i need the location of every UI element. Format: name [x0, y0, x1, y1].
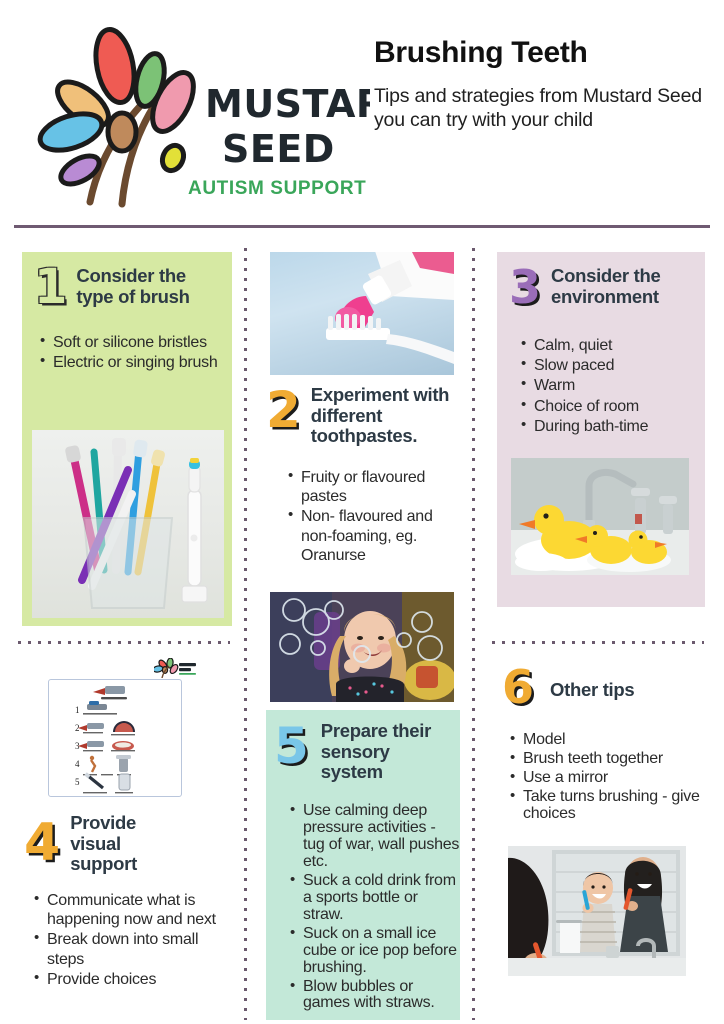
section-2-bullets: Fruity or flavoured pastes Non- flavoure…: [286, 468, 458, 566]
mother-child-brushing-mirror-photo: [508, 846, 686, 976]
list-item: During bath-time: [519, 417, 699, 436]
list-item: Communicate what is happening now and ne…: [32, 891, 232, 929]
list-item: Blow bubbles or games with straws.: [288, 979, 460, 1013]
list-item: Warm: [519, 376, 699, 395]
row-divider-right: [492, 641, 704, 644]
section-1-number: 1: [34, 265, 67, 309]
logo-tagline: AUTISM SUPPORT: [188, 178, 366, 199]
section-4-bullets: Communicate what is happening now and ne…: [32, 891, 232, 990]
list-item: Non- flavoured and non-foaming, eg. Oran…: [286, 507, 458, 565]
section-1-card: 1 Consider the type of brush Soft or sil…: [22, 252, 232, 626]
list-item: Model: [508, 732, 708, 749]
section-6-heading: 6 Other tips: [502, 666, 702, 708]
section-1-bullets: Soft or silicone bristles Electric or si…: [38, 333, 224, 373]
section-5-title: Prepare their sensory system: [321, 720, 439, 783]
section-4-block: 123 45: [18, 652, 233, 1012]
list-item: Break down into small steps: [32, 930, 232, 968]
column-divider-left: [244, 248, 247, 1020]
list-item: Calm, quiet: [519, 336, 699, 355]
section-4-title: Provide visual support: [70, 812, 180, 875]
list-item: Brush teeth together: [508, 751, 708, 768]
section-6-bullets: Model Brush teeth together Use a mirror …: [508, 732, 708, 825]
section-3-title: Consider the environment: [551, 264, 699, 307]
list-item: Soft or silicone bristles: [38, 333, 224, 352]
rubber-ducks-bath-photo: [511, 458, 689, 575]
mustard-seed-logo: MUSTARD SEED AUTISM SUPPORT: [30, 22, 370, 212]
list-item: Suck a cold drink from a sports bottle o…: [288, 873, 460, 924]
list-item: Slow paced: [519, 356, 699, 375]
section-5-bullets: Use calming deep pressure activities - t…: [288, 803, 460, 1014]
mirror-brushing-illustration: [508, 846, 686, 976]
section-5-block: 5 Prepare their sensory system Use calmi…: [266, 592, 464, 1020]
toothpaste-illustration: [270, 252, 454, 375]
list-item: Use a mirror: [508, 770, 708, 787]
section-3-heading: 3 Consider the environment: [509, 264, 699, 308]
header: MUSTARD SEED AUTISM SUPPORT Brushing Tee…: [0, 0, 724, 228]
header-divider-rule: [14, 225, 710, 228]
logo-artwork: MUSTARD SEED AUTISM SUPPORT: [30, 22, 370, 212]
rubber-ducks-illustration: [511, 458, 689, 575]
list-item: Fruity or flavoured pastes: [286, 468, 458, 506]
section-2-block: 2 Experiment with different toothpastes.…: [266, 252, 458, 582]
section-5-heading: 5 Prepare their sensory system: [274, 720, 456, 783]
toothbrush-illustration: [32, 430, 224, 618]
section-3-card: 3 Consider the environment Calm, quiet S…: [497, 252, 705, 607]
visual-schedule-illustration: 123 45: [49, 680, 181, 796]
section-2-title: Experiment with different toothpastes.: [311, 383, 458, 447]
logo-word-mustard: MUSTARD: [205, 82, 370, 126]
column-divider-right: [472, 248, 475, 1020]
list-item: Choice of room: [519, 397, 699, 416]
section-5-card: 5 Prepare their sensory system Use calmi…: [266, 710, 460, 1020]
list-item: Suck on a small ice cube or ice pop befo…: [288, 926, 460, 977]
svg-text:5: 5: [75, 777, 80, 787]
logo-word-seed: SEED: [222, 127, 335, 171]
list-item: Provide choices: [32, 970, 232, 989]
toothbrushes-in-glass-photo: [32, 430, 224, 618]
child-blowing-bubbles-photo: [270, 592, 454, 702]
toothpaste-on-brush-photo: [270, 252, 454, 375]
section-4-number: 4: [24, 820, 60, 868]
header-text: Brushing Teeth Tips and strategies from …: [374, 36, 704, 133]
page-subtitle: Tips and strategies from Mustard Seed yo…: [374, 85, 704, 133]
section-4-heading: 4 Provide visual support: [24, 812, 224, 875]
section-5-number: 5: [274, 723, 309, 769]
list-item: Use calming deep pressure activities - t…: [288, 803, 460, 871]
page-title: Brushing Teeth: [374, 36, 704, 69]
section-6-number: 6: [502, 666, 534, 708]
row-divider-left: [18, 641, 230, 644]
visual-schedule-photo: 123 45: [48, 679, 182, 797]
svg-text:4: 4: [75, 759, 80, 769]
section-2-number: 2: [266, 387, 301, 433]
section-3-bullets: Calm, quiet Slow paced Warm Choice of ro…: [519, 336, 699, 437]
infographic-page: MUSTARD SEED AUTISM SUPPORT Brushing Tee…: [0, 0, 724, 1024]
mini-mustard-seed-logo-icon: [154, 658, 198, 678]
svg-text:1: 1: [75, 705, 80, 715]
section-1-title: Consider the type of brush: [76, 263, 224, 307]
section-2-heading: 2 Experiment with different toothpastes.: [266, 383, 458, 447]
list-item: Electric or singing brush: [38, 353, 224, 372]
list-item: Take turns brushing - give choices: [508, 789, 708, 823]
section-3-number: 3: [509, 266, 541, 308]
section-6-title: Other tips: [550, 666, 634, 701]
section-6-block: 6 Other tips Model Brush teeth together …: [492, 660, 707, 1012]
section-1-heading: 1 Consider the type of brush: [34, 263, 224, 309]
bubbles-child-illustration: [270, 592, 454, 702]
